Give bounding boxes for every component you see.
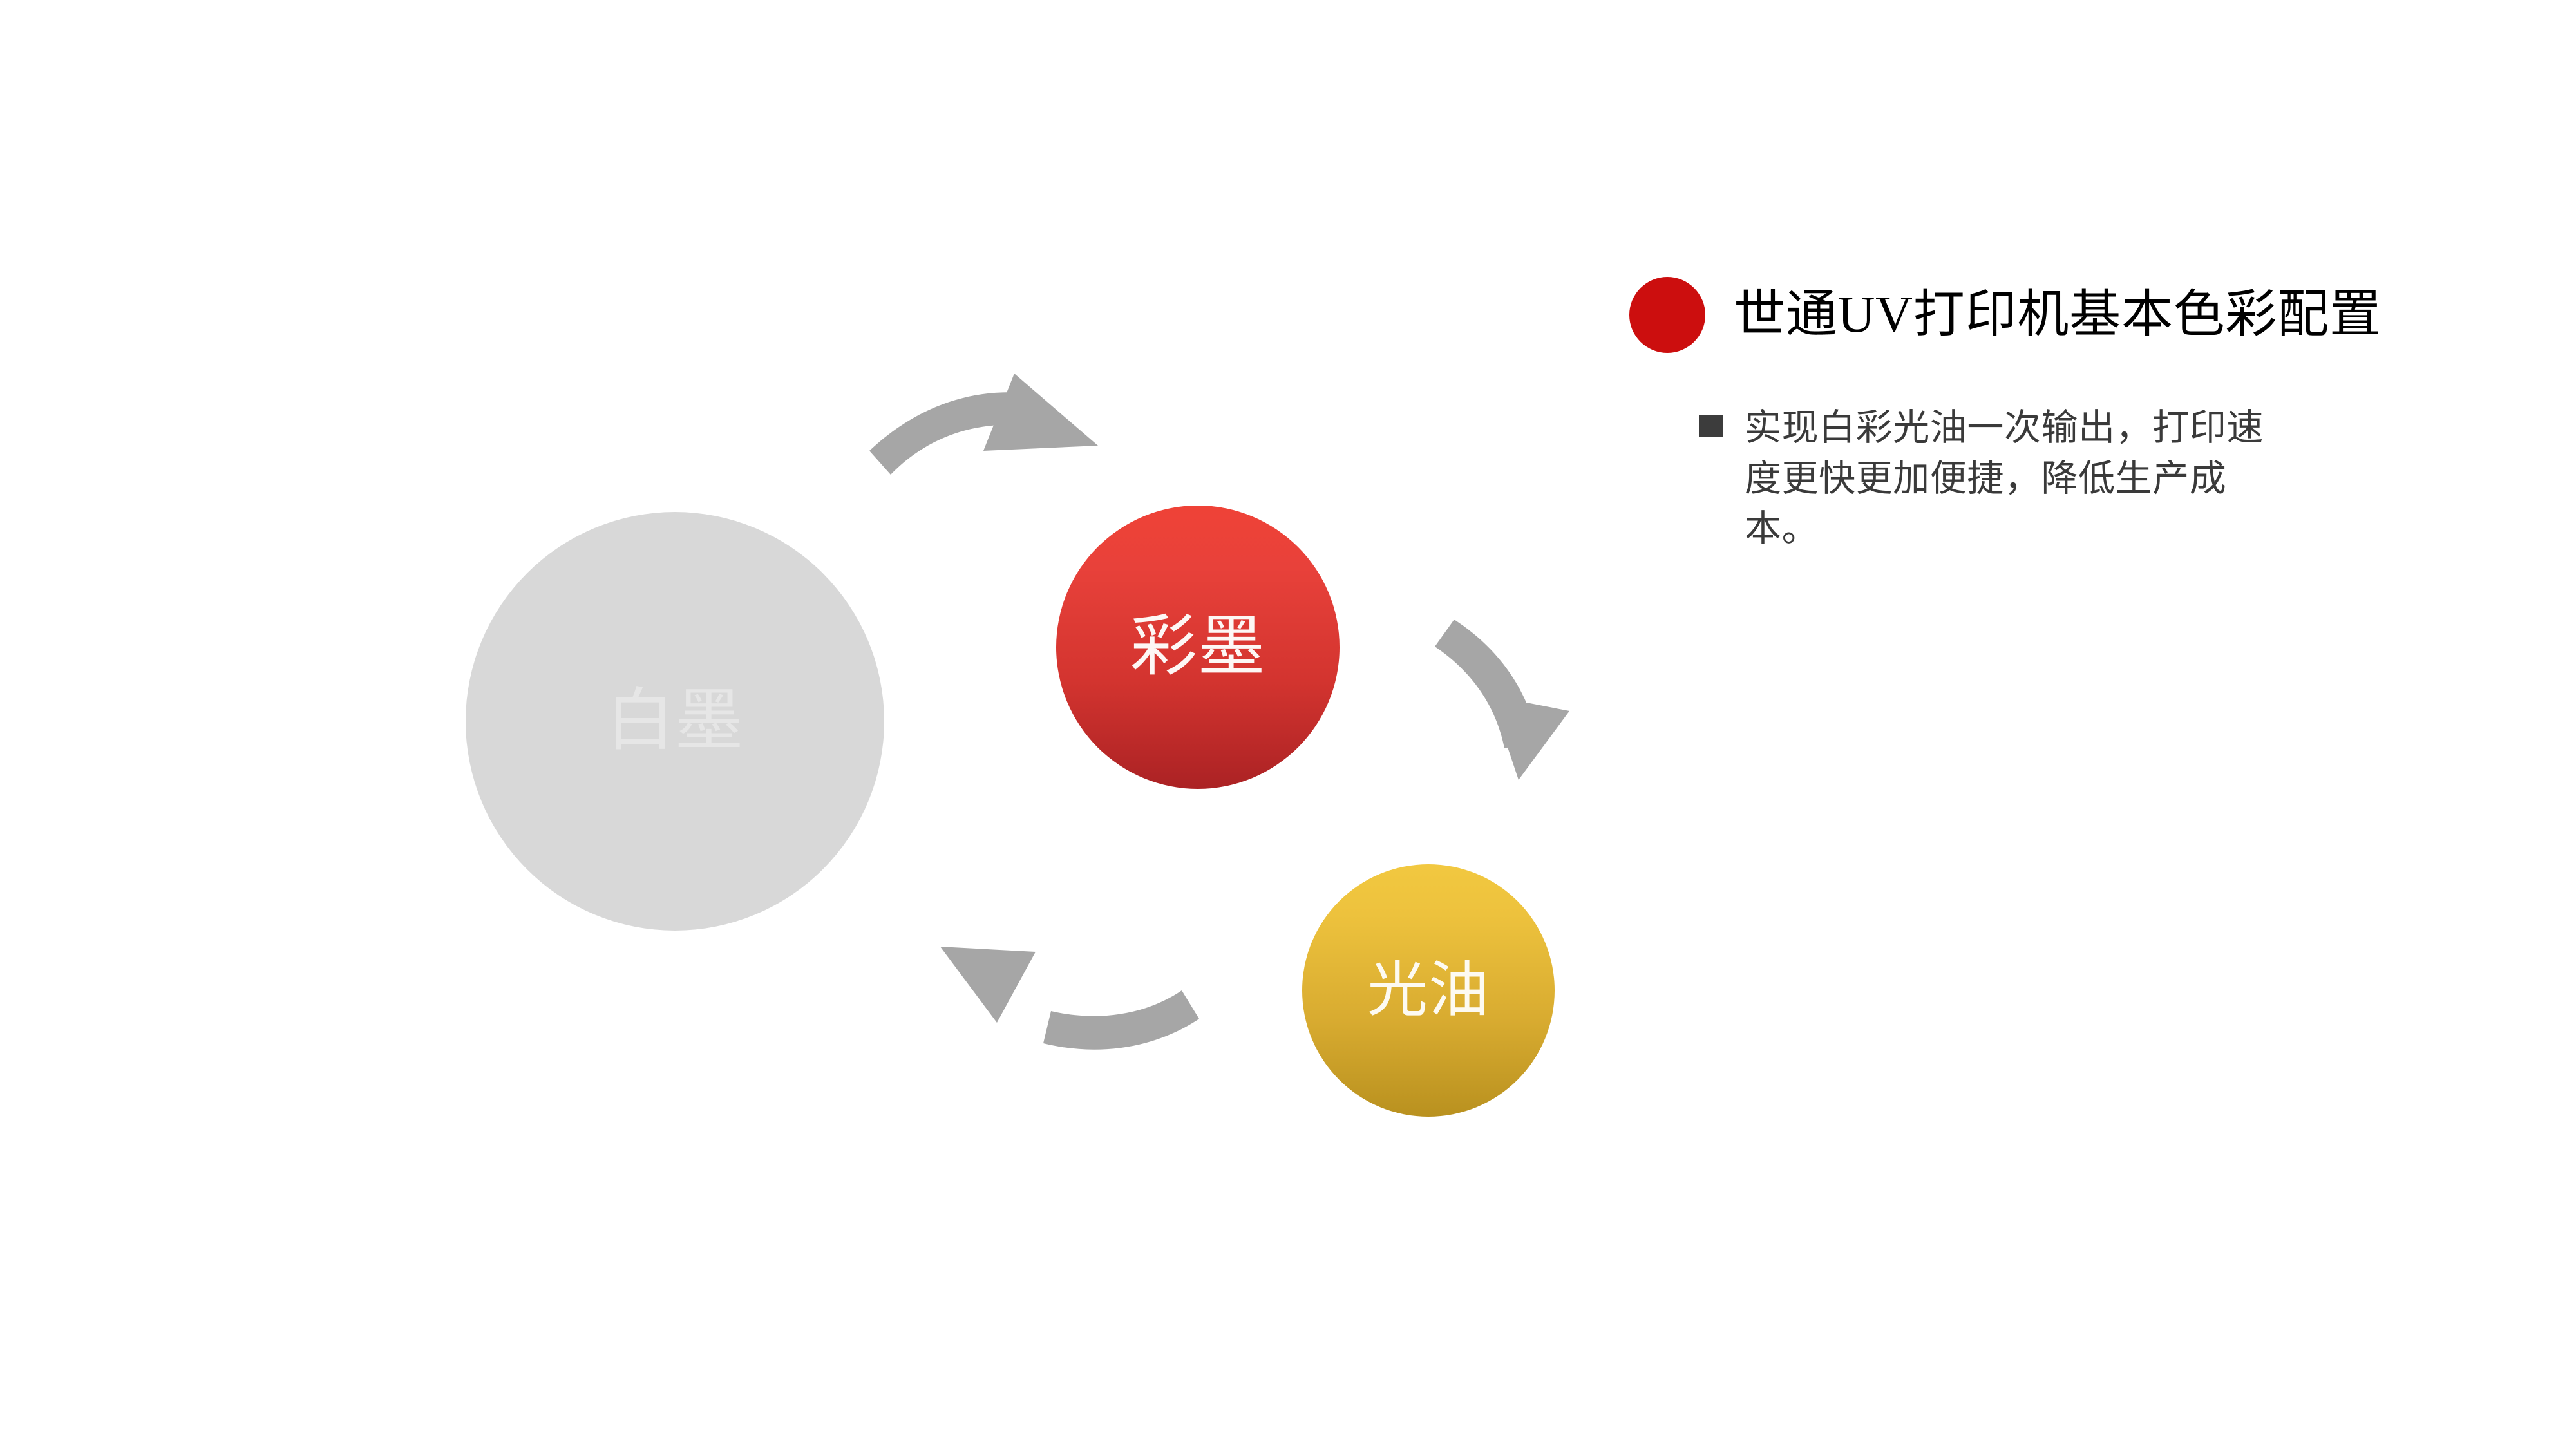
arrow-white-to-color-icon: [869, 374, 1098, 475]
text-panel: 世通UV打印机基本色彩配置 实现白彩光油一次输出，打印速度更快更加便捷，降低生产…: [1629, 277, 2454, 555]
node-color-ink[interactable]: 彩墨: [1056, 506, 1340, 789]
node-white-ink-label: 白墨: [606, 687, 744, 755]
square-bullet-icon: [1699, 415, 1723, 437]
page-title: 世通UV打印机基本色彩配置: [1734, 288, 2382, 342]
node-white-ink[interactable]: 白墨: [466, 512, 884, 931]
node-varnish[interactable]: 光油: [1302, 864, 1555, 1117]
bullet-list: 实现白彩光油一次输出，打印速度更快更加便捷，降低生产成本。: [1629, 403, 2454, 555]
arrow-varnish-to-white-icon: [940, 947, 1199, 1050]
node-color-ink-label: 彩墨: [1130, 614, 1265, 681]
node-varnish-label: 光油: [1367, 960, 1490, 1021]
cycle-diagram: 白墨 彩墨 光油: [0, 0, 1610, 1449]
slide-canvas: 白墨 彩墨 光油 世通UV打印机基本色彩配置 实现白彩光油一次输出，打印速度更快…: [0, 0, 2576, 1449]
arrow-color-to-varnish-icon: [1435, 620, 1569, 780]
list-item-text: 实现白彩光油一次输出，打印速度更快更加便捷，降低生产成本。: [1745, 403, 2279, 555]
list-item: 实现白彩光油一次输出，打印速度更快更加便捷，降低生产成本。: [1699, 403, 2454, 555]
red-dot-icon: [1629, 277, 1705, 353]
section-title-row: 世通UV打印机基本色彩配置: [1629, 277, 2454, 353]
